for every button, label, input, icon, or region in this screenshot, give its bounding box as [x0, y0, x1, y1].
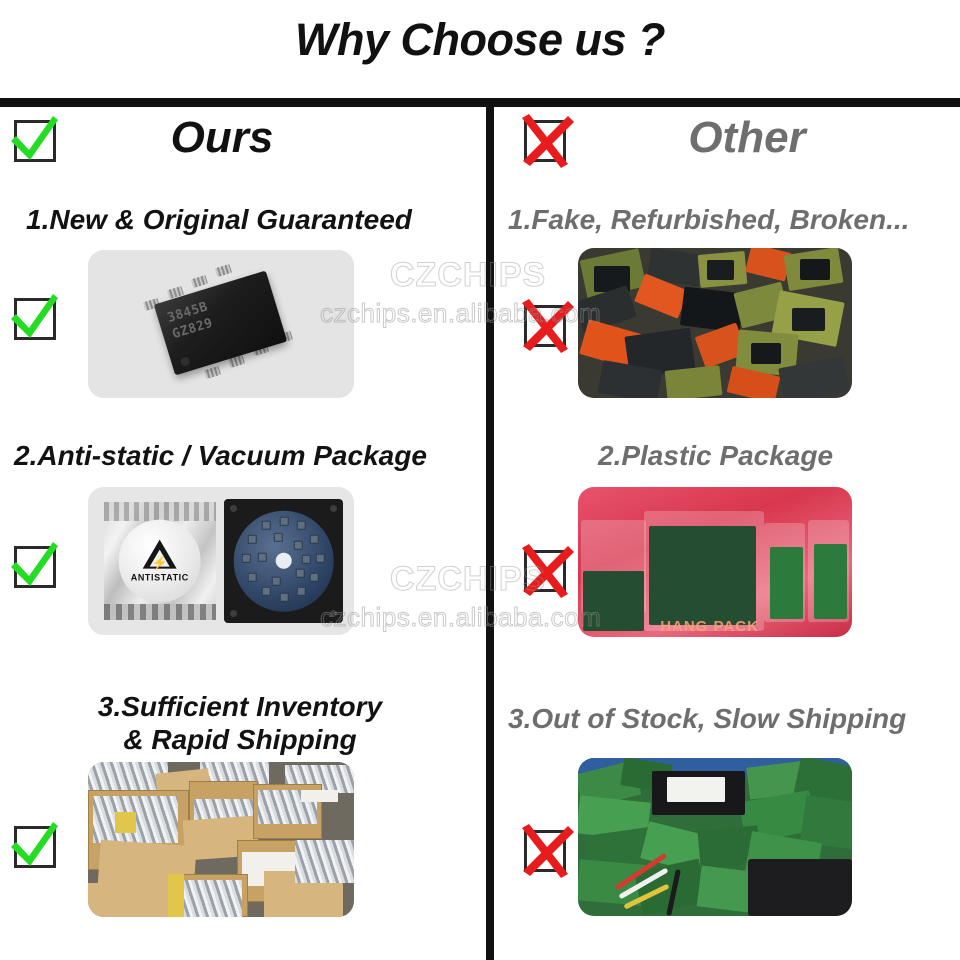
- cross-glyph: [518, 112, 572, 166]
- check-glyph: [8, 538, 62, 592]
- column-header-ours-label: Ours: [0, 113, 486, 163]
- check-glyph: [8, 290, 62, 344]
- other-item-3-photo: [578, 758, 852, 916]
- cross-glyph: [518, 542, 572, 596]
- other-item-3-text: 3.Out of Stock, Slow Shipping: [508, 702, 906, 735]
- ours-item-3-text: 3.Sufficient Inventory & Rapid Shipping: [50, 690, 430, 756]
- cross-glyph: [518, 297, 572, 351]
- check-mark-icon-row-2: [8, 538, 62, 592]
- ours-item-1-text: 1.New & Original Guaranteed: [26, 203, 412, 236]
- header-divider: [0, 98, 960, 107]
- ours-item-2-text: 2.Anti-static / Vacuum Package: [14, 439, 427, 472]
- url-watermark-2: czchips.en.alibaba.com: [320, 602, 601, 633]
- check-glyph: [8, 818, 62, 872]
- column-header-ours: Ours: [0, 107, 486, 182]
- page-title: Why Choose us ?: [0, 14, 960, 66]
- check-mark-icon-row-3: [8, 818, 62, 872]
- cross-glyph: [518, 822, 572, 876]
- ours-item-3-text-line-1: 3.Sufficient Inventory: [50, 690, 430, 723]
- black-module-in-scrap: [652, 771, 745, 815]
- cross-mark-icon-header: [518, 112, 572, 166]
- ours-item-2-photo: ⚡ ANTISTATIC: [88, 487, 354, 635]
- why-choose-us-comparison-page: Why Choose us ? Ours Other 1.New & Origi…: [0, 0, 960, 960]
- module-label: [667, 777, 725, 803]
- other-item-2-text: 2.Plastic Package: [598, 439, 833, 472]
- cross-mark-icon-row-1: [518, 297, 572, 351]
- cross-mark-icon-row-3: [518, 822, 572, 876]
- ours-item-3-text-line-2: & Rapid Shipping: [50, 723, 430, 756]
- ours-item-1-photo: 3845B GZ829: [88, 250, 354, 398]
- other-item-1-text: 1.Fake, Refurbished, Broken...: [508, 203, 909, 236]
- other-item-2-photo-watermark: HANG PACK: [660, 618, 759, 635]
- cross-mark-icon-row-2: [518, 542, 572, 596]
- check-mark-icon-row-1: [8, 290, 62, 344]
- other-item-2-photo: HANG PACK: [578, 487, 852, 637]
- check-mark-icon-header: [8, 112, 62, 166]
- lightning-bolt-icon: ⚡: [152, 556, 168, 569]
- check-glyph: [8, 112, 62, 166]
- antistatic-label: ANTISTATIC: [131, 572, 189, 582]
- other-item-1-photo: [578, 248, 852, 398]
- ours-item-3-photo: [88, 762, 354, 917]
- brand-watermark-1: CZCHIPS: [390, 256, 546, 295]
- column-divider: [486, 107, 494, 960]
